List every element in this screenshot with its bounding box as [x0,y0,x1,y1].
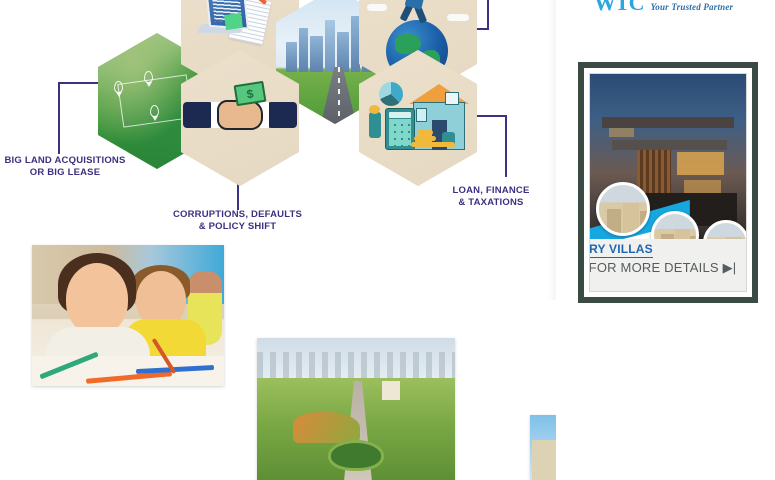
ad-cta-label: K FOR MORE DETAILS [589,260,719,275]
brand-logo-tagline: Your Trusted Partner [651,3,734,14]
brand-logo-mark: WTC [594,0,644,14]
children-in-classroom-photo [32,245,224,386]
brand-logo[interactable]: WTC Your Trusted Partner [594,0,754,14]
label-corruptions-defaults: CORRUPTIONS, DEFAULTS & POLICY SHIFT [155,209,320,233]
connector-line-land-vertical [58,82,60,154]
connector-line-finance-vertical [505,115,507,177]
connector-line-globe-vertical [487,0,489,30]
ad-caption-bar: XURY VILLAS K FOR MORE DETAILS ▶| [590,239,746,291]
label-loan-finance-taxations: LOAN, FINANCE & TAXATIONS [430,185,552,209]
play-arrow-icon: ▶| [723,260,737,275]
connector-line-land-horizontal [58,82,104,84]
aerial-township-entrance-photo [257,338,455,480]
ad-title: XURY VILLAS [589,242,653,258]
ad-call-to-action[interactable]: K FOR MORE DETAILS ▶| [589,260,736,276]
luxury-villas-advertisement[interactable]: XURY VILLAS K FOR MORE DETAILS ▶| [578,62,758,303]
villa-thumbnail-1[interactable] [596,182,650,236]
main-content-column: BIG LAND ACQUISITIONS OR BIG LEASE CORRU… [0,0,556,480]
residential-villas-photo [530,415,556,480]
label-big-land-acquisitions: BIG LAND ACQUISITIONS OR BIG LEASE [0,155,130,179]
sidebar-advertisement-panel: WTC Your Trusted Partner [556,0,775,480]
ad-inner-frame: XURY VILLAS K FOR MORE DETAILS ▶| [589,73,747,292]
